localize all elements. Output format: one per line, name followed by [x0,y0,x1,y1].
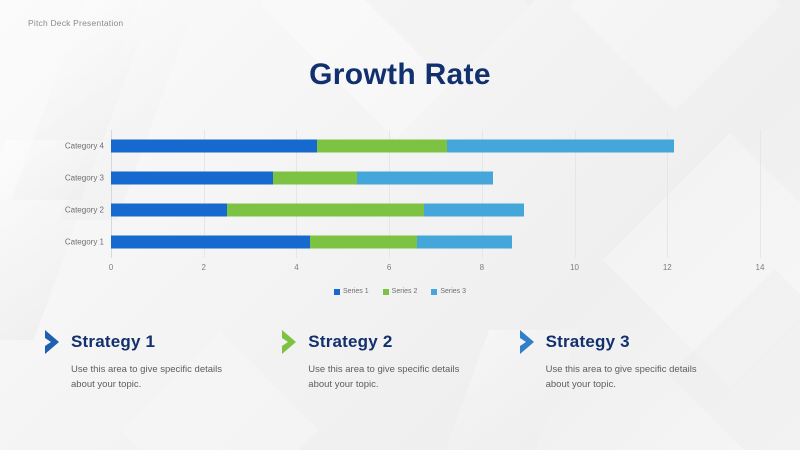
strategy-column-1: Strategy 1Use this area to give specific… [44,330,281,392]
x-axis-ticks: 02468101214 [111,260,760,280]
x-tick-label: 6 [387,263,391,272]
category-label: Category 1 [65,238,104,247]
strategy-column-2: Strategy 2Use this area to give specific… [281,330,518,392]
strategy-body-text: Use this area to give specific details a… [546,363,716,392]
category-label: Category 2 [65,206,104,215]
bar-segment [424,204,524,217]
stacked-bar [111,236,512,249]
category-label: Category 4 [65,142,104,151]
bar-segment [111,236,310,249]
strategy-title: Strategy 1 [71,332,155,352]
bar-segment [227,204,424,217]
chart-legend: Series 1Series 2Series 3 [0,288,800,295]
legend-item[interactable]: Series 2 [383,288,418,295]
legend-item[interactable]: Series 1 [334,288,369,295]
bar-segment [357,172,494,185]
x-tick-label: 14 [756,263,765,272]
x-tick-label: 0 [109,263,113,272]
legend-label: Series 3 [440,288,466,295]
legend-label: Series 2 [392,288,418,295]
slide-kicker: Pitch Deck Presentation [28,18,123,28]
x-tick-label: 10 [570,263,579,272]
stacked-bar [111,140,674,153]
legend-swatch-icon [431,289,437,295]
bar-segment [111,204,227,217]
category-label: Category 3 [65,174,104,183]
legend-label: Series 1 [343,288,369,295]
strategy-heading: Strategy 1 [44,330,257,354]
strategy-heading: Strategy 2 [281,330,494,354]
chevron-right-icon [44,330,61,354]
strategy-heading: Strategy 3 [519,330,732,354]
legend-swatch-icon [383,289,389,295]
x-tick-label: 8 [480,263,484,272]
legend-swatch-icon [334,289,340,295]
bar-segment [310,236,417,249]
bar-segment [111,172,273,185]
slide-canvas: Pitch Deck Presentation Growth Rate Cate… [0,0,800,450]
x-tick-label: 2 [201,263,205,272]
strategy-body-text: Use this area to give specific details a… [308,363,478,392]
strategy-title: Strategy 3 [546,332,630,352]
chevron-right-icon [281,330,298,354]
gridline [760,130,761,258]
chart-plot-area: Category 4Category 3Category 2Category 1 [111,130,760,258]
stacked-bar [111,172,493,185]
legend-item[interactable]: Series 3 [431,288,466,295]
x-tick-label: 4 [294,263,298,272]
stacked-bar [111,204,524,217]
bar-segment [417,236,512,249]
bar-segment [111,140,317,153]
bar-segment [273,172,356,185]
bar-segment [317,140,447,153]
bar-segment [447,140,674,153]
growth-rate-chart: Category 4Category 3Category 2Category 1… [40,130,760,280]
strategy-body-text: Use this area to give specific details a… [71,363,241,392]
page-title: Growth Rate [0,58,800,92]
strategy-columns: Strategy 1Use this area to give specific… [44,330,756,392]
chevron-right-icon [519,330,536,354]
x-tick-label: 12 [663,263,672,272]
strategy-column-3: Strategy 3Use this area to give specific… [519,330,756,392]
strategy-title: Strategy 2 [308,332,392,352]
